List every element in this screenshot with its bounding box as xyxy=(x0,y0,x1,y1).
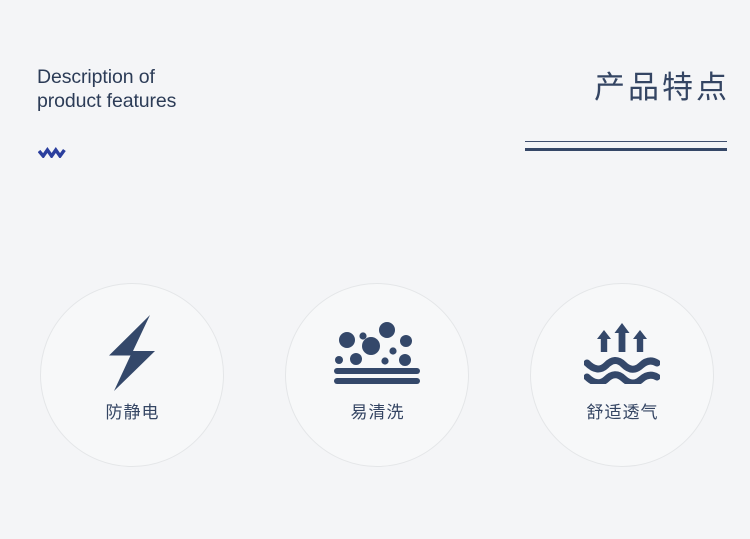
feature-item-easy-clean: 易清洗 xyxy=(285,283,469,467)
page-title-english: Description of product features xyxy=(37,66,176,113)
feature-item-breathable: 舒适透气 xyxy=(530,283,714,467)
zigzag-wave-decoration-icon xyxy=(38,145,66,157)
lightning-bolt-icon xyxy=(103,322,161,384)
product-features-page: Description of product features 产品特点 防静电 xyxy=(0,0,750,539)
underline-thin xyxy=(525,141,727,142)
feature-label: 舒适透气 xyxy=(587,402,659,424)
title-double-underline xyxy=(525,141,727,151)
dust-particles-over-fabric-icon xyxy=(333,322,421,384)
feature-label: 易清洗 xyxy=(351,402,405,424)
page-title-chinese-wrap: 产品特点 xyxy=(594,68,727,108)
breathable-arrows-waves-icon xyxy=(584,322,660,384)
feature-label: 防静电 xyxy=(106,402,160,424)
underline-thick xyxy=(525,148,727,151)
feature-circle-list: 防静电 xyxy=(0,283,750,468)
feature-item-antistatic: 防静电 xyxy=(40,283,224,467)
page-title-chinese: 产品特点 xyxy=(594,68,730,108)
page-header: Description of product features 产品特点 xyxy=(0,0,750,200)
